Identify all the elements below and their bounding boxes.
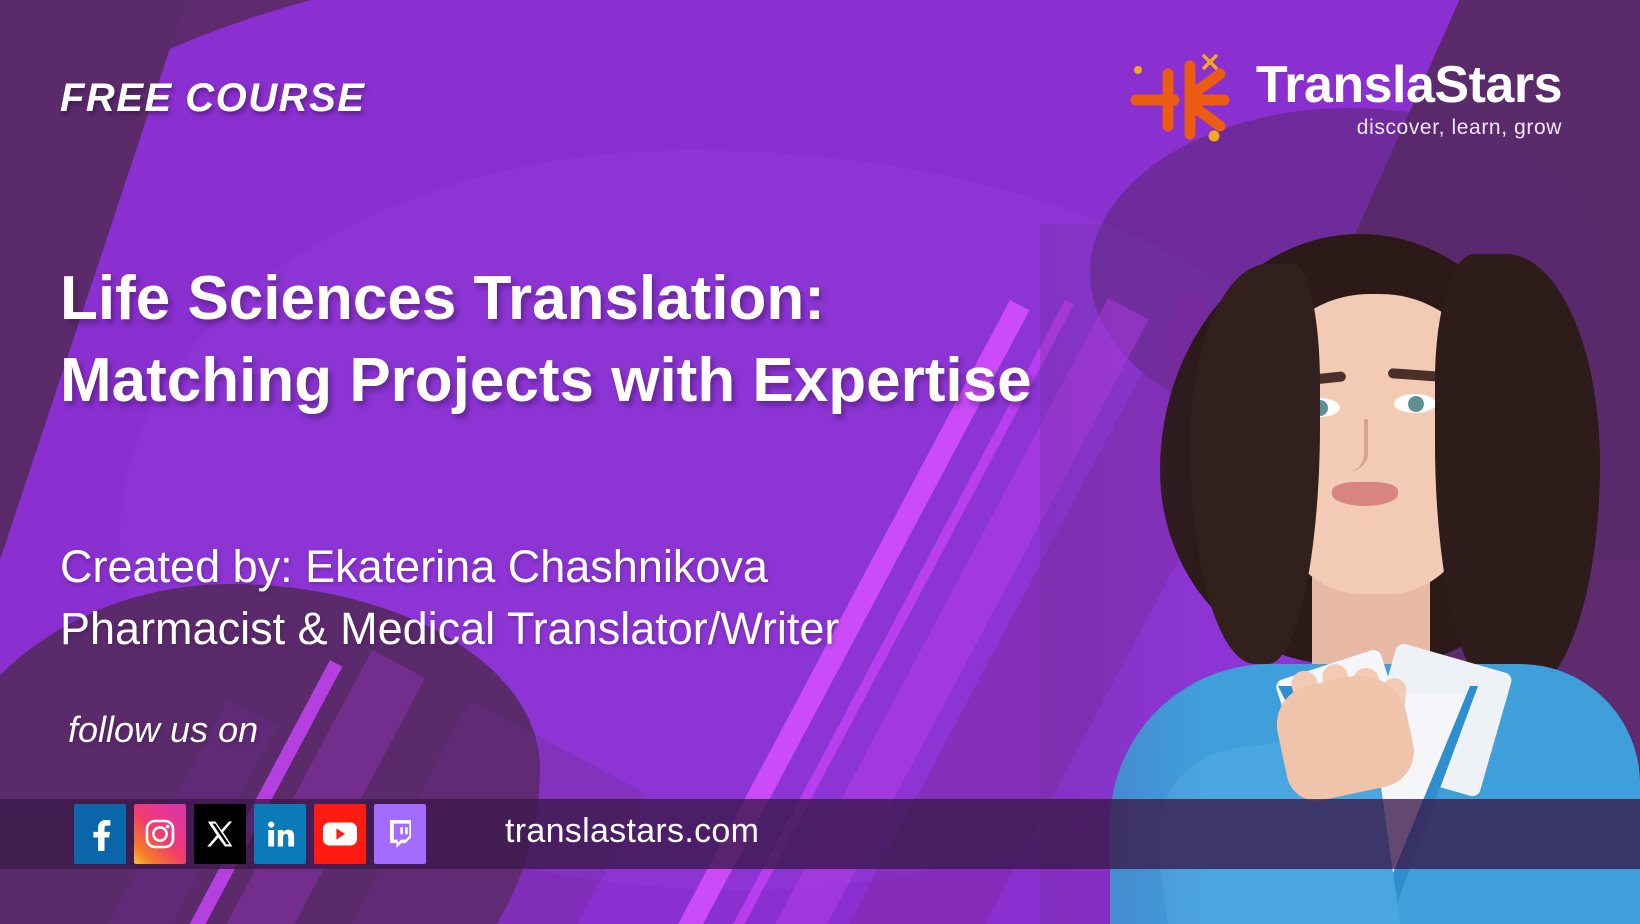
author-name-line: Created by: Ekaterina Chashnikova [60, 536, 839, 598]
website-url[interactable]: translastars.com [505, 812, 759, 851]
x-icon[interactable] [194, 804, 246, 864]
course-promo-banner: FREE COURSE Tran [0, 0, 1640, 924]
logo-wordmark: TranslaStars discover, learn, grow [1256, 59, 1562, 138]
free-course-badge: FREE COURSE [60, 76, 365, 121]
photo-iris-right [1408, 396, 1424, 412]
facebook-icon[interactable] [74, 804, 126, 864]
youtube-icon[interactable] [314, 804, 366, 864]
photo-nose [1340, 419, 1368, 471]
photo-hair-front-right [1435, 254, 1600, 694]
course-author: Created by: Ekaterina Chashnikova Pharma… [60, 536, 839, 660]
social-links [74, 804, 426, 864]
photo-lips [1332, 482, 1398, 506]
translastars-spark-icon [1128, 48, 1238, 148]
twitch-icon[interactable] [374, 804, 426, 864]
logo-tagline: discover, learn, grow [1357, 117, 1562, 138]
translastars-logo[interactable]: TranslaStars discover, learn, grow [1128, 48, 1562, 148]
course-title-line-1: Life Sciences Translation: [60, 258, 1310, 340]
follow-us-label: follow us on [68, 709, 258, 751]
instagram-icon[interactable] [134, 804, 186, 864]
linkedin-icon[interactable] [254, 804, 306, 864]
author-role-line: Pharmacist & Medical Translator/Writer [60, 598, 839, 660]
course-title: Life Sciences Translation: Matching Proj… [60, 258, 1310, 422]
logo-name: TranslaStars [1256, 59, 1562, 111]
course-title-line-2: Matching Projects with Expertise [60, 340, 1310, 422]
